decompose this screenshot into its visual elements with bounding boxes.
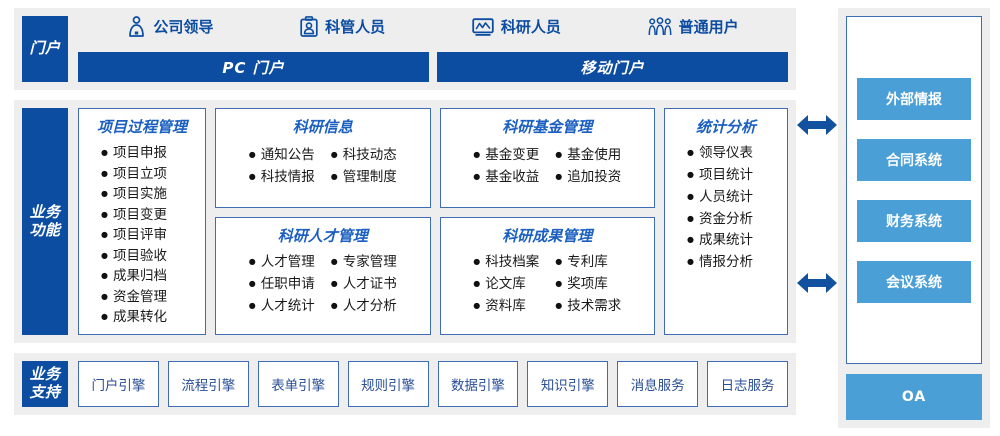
list-item[interactable]: 项目申报 <box>101 143 199 164</box>
card-column-fund-achievement: 科研基金管理 基金变更 基金使用 基金收益 追加投资 科研成果管理 科技档案 专… <box>440 108 656 335</box>
card-statistics-analysis[interactable]: 统计分析 领导仪表 项目统计 人员统计 资金分析 成果统计 情报分析 <box>664 108 788 335</box>
list-item[interactable]: 通知公告 <box>249 145 315 167</box>
card-title: 项目过程管理 <box>85 116 199 137</box>
list-item[interactable]: 项目评审 <box>101 225 199 246</box>
support-chip-form-engine[interactable]: 表单引擎 <box>258 361 339 407</box>
list-item[interactable]: 项目变更 <box>101 205 199 226</box>
list-item[interactable]: 专利库 <box>555 252 621 274</box>
architecture-diagram: 门户 公司领导 <box>0 0 1000 436</box>
list-item[interactable]: 项目验收 <box>101 246 199 267</box>
support-chip-data-engine[interactable]: 数据引擎 <box>438 361 519 407</box>
list-item[interactable]: 项目统计 <box>687 165 781 187</box>
list-item[interactable]: 人员统计 <box>687 187 781 209</box>
list-item[interactable]: 基金收益 <box>473 167 539 189</box>
leader-icon <box>127 16 146 37</box>
business-support-band-label: 业务支持 <box>22 361 68 407</box>
support-chip-row: 门户引擎 流程引擎 表单引擎 规则引擎 数据引擎 知识引擎 消息服务 日志服务 <box>78 361 788 407</box>
external-systems-column: 外部情报 合同系统 财务系统 会议系统 OA <box>838 8 990 428</box>
main-column: 门户 公司领导 <box>14 8 796 428</box>
role-research-manager[interactable]: 科管人员 <box>300 16 385 37</box>
role-label: 科管人员 <box>325 16 385 37</box>
support-chip-process-engine[interactable]: 流程引擎 <box>168 361 249 407</box>
card-title: 科研人才管理 <box>222 225 424 246</box>
list-item[interactable]: 成果统计 <box>687 230 781 252</box>
list-item[interactable]: 资金分析 <box>687 209 781 231</box>
support-chip-knowledge-engine[interactable]: 知识引擎 <box>527 361 608 407</box>
list-item[interactable]: 人才分析 <box>331 296 397 318</box>
external-systems-box: 外部情报 合同系统 财务系统 会议系统 <box>846 16 982 364</box>
card-research-talent[interactable]: 科研人才管理 人才管理 专家管理 任职申请 人才证书 人才统计 人才分析 <box>215 217 431 335</box>
integration-arrow-column <box>796 8 838 428</box>
card-title: 科研成果管理 <box>447 225 649 246</box>
support-chip-log-service[interactable]: 日志服务 <box>707 361 788 407</box>
external-system-meeting[interactable]: 会议系统 <box>857 261 971 303</box>
card-research-info[interactable]: 科研信息 通知公告 科技动态 科技情报 管理制度 <box>215 108 431 208</box>
portal-entry-row: PC 门户 移动门户 <box>78 52 788 82</box>
list-item[interactable]: 资金管理 <box>101 287 199 308</box>
list-item[interactable]: 专家管理 <box>331 252 397 274</box>
card-item-list: 基金变更 基金使用 基金收益 追加投资 <box>447 143 649 189</box>
card-column-info-talent: 科研信息 通知公告 科技动态 科技情报 管理制度 科研人才管理 人才管理 专家管… <box>215 108 431 335</box>
list-item[interactable]: 追加投资 <box>555 167 621 189</box>
role-row: 公司领导 科管人员 <box>78 16 788 39</box>
portal-entry-pc[interactable]: PC 门户 <box>78 52 429 82</box>
list-item[interactable]: 科技情报 <box>249 167 315 189</box>
business-function-band-label: 业务功能 <box>22 108 68 335</box>
role-general-user[interactable]: 普通用户 <box>648 16 739 37</box>
list-item[interactable]: 人才统计 <box>249 296 315 318</box>
list-item[interactable]: 情报分析 <box>687 252 781 274</box>
integration-arrow-bottom <box>797 270 837 296</box>
card-research-fund[interactable]: 科研基金管理 基金变更 基金使用 基金收益 追加投资 <box>440 108 656 208</box>
list-item[interactable]: 成果转化 <box>101 307 199 328</box>
card-item-list: 通知公告 科技动态 科技情报 管理制度 <box>222 143 424 189</box>
list-item[interactable]: 奖项库 <box>555 274 621 296</box>
card-research-achievement[interactable]: 科研成果管理 科技档案 专利库 论文库 奖项库 资料库 技术需求 <box>440 217 656 335</box>
card-item-list: 人才管理 专家管理 任职申请 人才证书 人才统计 人才分析 <box>222 252 424 318</box>
list-item[interactable]: 项目立项 <box>101 164 199 185</box>
list-item[interactable]: 人才管理 <box>249 252 315 274</box>
list-item[interactable]: 人才证书 <box>331 274 397 296</box>
external-system-contract[interactable]: 合同系统 <box>857 139 971 181</box>
function-card-grid: 项目过程管理 项目申报 项目立项 项目实施 项目变更 项目评审 项目验收 成果归… <box>78 108 788 335</box>
list-item[interactable]: 管理制度 <box>331 167 397 189</box>
role-label: 公司领导 <box>153 16 213 37</box>
badge-person-icon <box>300 16 318 37</box>
card-title: 科研基金管理 <box>447 116 649 137</box>
list-item[interactable]: 科技档案 <box>473 252 539 274</box>
card-item-list: 领导仪表 项目统计 人员统计 资金分析 成果统计 情报分析 <box>671 143 781 274</box>
support-chip-rule-engine[interactable]: 规则引擎 <box>348 361 429 407</box>
list-item[interactable]: 领导仪表 <box>687 143 781 165</box>
list-item[interactable]: 任职申请 <box>249 274 315 296</box>
business-function-band: 业务功能 项目过程管理 项目申报 项目立项 项目实施 项目变更 项目评审 项目验… <box>14 100 796 343</box>
card-item-list: 科技档案 专利库 论文库 奖项库 资料库 技术需求 <box>447 252 649 318</box>
list-item[interactable]: 成果归档 <box>101 266 199 287</box>
list-item[interactable]: 技术需求 <box>555 296 621 318</box>
portal-band: 门户 公司领导 <box>14 8 796 90</box>
external-system-oa[interactable]: OA <box>846 374 982 420</box>
business-support-band: 业务支持 门户引擎 流程引擎 表单引擎 规则引擎 数据引擎 知识引擎 消息服务 … <box>14 353 796 415</box>
list-item[interactable]: 项目实施 <box>101 184 199 205</box>
card-item-list: 项目申报 项目立项 项目实施 项目变更 项目评审 项目验收 成果归档 资金管理 … <box>85 143 199 328</box>
chart-monitor-icon <box>472 17 494 37</box>
role-label: 普通用户 <box>679 16 739 37</box>
group-people-icon <box>648 17 672 37</box>
list-item[interactable]: 基金使用 <box>555 145 621 167</box>
support-chip-portal-engine[interactable]: 门户引擎 <box>78 361 159 407</box>
external-system-finance[interactable]: 财务系统 <box>857 200 971 242</box>
integration-arrow-top <box>797 112 837 138</box>
card-title: 统计分析 <box>671 116 781 137</box>
portal-band-content: 公司领导 科管人员 <box>78 16 788 82</box>
portal-band-label: 门户 <box>22 16 68 82</box>
list-item[interactable]: 基金变更 <box>473 145 539 167</box>
role-researcher[interactable]: 科研人员 <box>472 16 561 37</box>
list-item[interactable]: 论文库 <box>473 274 539 296</box>
role-company-leader[interactable]: 公司领导 <box>127 16 213 37</box>
portal-entry-mobile[interactable]: 移动门户 <box>437 52 788 82</box>
card-project-process[interactable]: 项目过程管理 项目申报 项目立项 项目实施 项目变更 项目评审 项目验收 成果归… <box>78 108 206 335</box>
list-item[interactable]: 科技动态 <box>331 145 397 167</box>
card-title: 科研信息 <box>222 116 424 137</box>
role-label: 科研人员 <box>501 16 561 37</box>
external-system-intelligence[interactable]: 外部情报 <box>857 78 971 120</box>
support-chip-message-service[interactable]: 消息服务 <box>617 361 698 407</box>
list-item[interactable]: 资料库 <box>473 296 539 318</box>
